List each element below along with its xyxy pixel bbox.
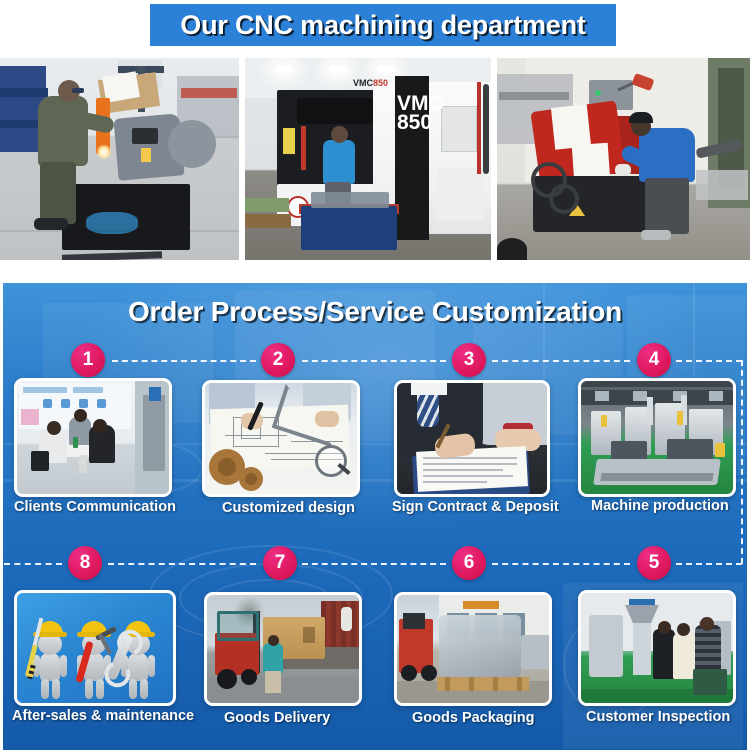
step4-conveyor-rail [600, 473, 713, 481]
step5-machine-column [633, 623, 651, 675]
step7-crate-marking [303, 627, 315, 643]
step6-second-wrapped-machine [521, 635, 549, 669]
step5-person-dark-head [658, 621, 671, 634]
step-badge-3[interactable]: 3 [452, 343, 486, 377]
step8-fig1-leg-left [41, 679, 49, 699]
page-root: Our CNC machining department [0, 0, 750, 750]
step8-fig1-arm-right [60, 655, 67, 677]
step-label-1: Clients Communication [14, 499, 176, 515]
step5-person-dark-body [653, 629, 675, 679]
photo3-work-order-sheet-a [551, 104, 591, 150]
step-7-image [207, 595, 359, 703]
photo1-worker-legs [40, 162, 76, 224]
step-1-image [17, 381, 169, 494]
step5-machine-left [589, 615, 623, 677]
step1-board-icon-3 [79, 399, 88, 408]
step8-fig2-leg-left [85, 679, 93, 699]
step-card-1[interactable] [14, 378, 172, 497]
photo-cnc-vmc-850: VMC 850 VMC850 [245, 58, 491, 260]
step8-fig3-leg-right [140, 679, 148, 699]
photo1-worker-safety-glasses [72, 88, 84, 93]
step-card-6[interactable] [394, 592, 552, 706]
step4-roof-beam [581, 387, 733, 390]
header-banner-area: Our CNC machining department [0, 0, 750, 56]
step-badge-4[interactable]: 4 [637, 343, 671, 377]
step3-doc-line-1 [423, 457, 517, 459]
photo2-ceiling-light-1 [275, 66, 293, 73]
step3-shirt-collar [411, 383, 447, 395]
step3-doc-line-5 [423, 481, 487, 483]
step6-awning [463, 601, 499, 609]
step1-equipment-body [143, 395, 165, 471]
step-card-4[interactable] [578, 378, 736, 497]
photo2-worker-head [331, 126, 348, 143]
photo2-machine-top-text: VMC850 [353, 78, 388, 88]
step5-person-light-head [677, 623, 690, 636]
step-card-3[interactable] [394, 380, 550, 497]
photo1-cutting-spark [96, 144, 112, 160]
step3-doc-line-2 [423, 463, 517, 465]
step-4-image [581, 381, 733, 494]
step8-fig3-leg-left [129, 679, 137, 699]
photo1-worker-body [38, 96, 88, 166]
step4-window-4 [709, 391, 723, 401]
photo2-worker-body [323, 140, 355, 184]
step6-forklift-wheel-1 [401, 665, 417, 681]
step6-forklift-cab [403, 613, 425, 629]
connector-right-to-5 [676, 563, 742, 565]
step6-wrapped-machine [439, 615, 521, 677]
step-label-8: After-sales & maintenance [12, 708, 194, 724]
connector-7-to-8 [108, 563, 256, 565]
step7-forklift-wheel-1 [217, 669, 237, 689]
photo2-vmc-top-label: VMC [353, 78, 373, 88]
step-badge-5[interactable]: 5 [637, 546, 671, 580]
photo2-wood-pallet [245, 214, 291, 228]
connector-4-to-right [676, 360, 742, 362]
step2-drawing-line-1 [225, 435, 287, 436]
step6-pallet-slat-3 [493, 677, 498, 691]
step5-equipment-case [693, 669, 727, 695]
step4-conveyor [593, 459, 721, 485]
step8-fig2-leg-right [96, 679, 104, 699]
step-3-image [397, 383, 547, 494]
photo3-worker-shoe [641, 230, 671, 240]
photo-worker-red-bandsaw [497, 58, 750, 260]
photo2-cable [483, 84, 489, 174]
step4-post-1 [647, 397, 653, 425]
photo3-tire [497, 238, 527, 260]
photo1-right-shelf-red [181, 88, 237, 98]
photo2-cart-tools [311, 192, 389, 208]
step-badge-8[interactable]: 8 [68, 546, 102, 580]
step8-fig1-leg-right [52, 679, 60, 699]
photo2-red-accent-line [477, 82, 481, 174]
photo1-control-panel [132, 128, 158, 144]
step4-yellow-marker-3 [715, 443, 725, 457]
step6-pallet-slat-4 [517, 677, 522, 691]
step-label-2: Customized design [222, 500, 355, 516]
step7-loader-figure [341, 607, 352, 631]
step1-person-left-head [47, 421, 61, 435]
photo3-floor-clutter [696, 170, 748, 200]
step8-fig1-torso [40, 653, 60, 681]
step-label-3: Sign Contract & Deposit [392, 499, 559, 515]
step3-doc-line-4 [423, 475, 513, 477]
step1-suitcase [31, 451, 49, 471]
step7-worker-legs [265, 671, 281, 693]
photo3-handwheel-b [549, 184, 579, 214]
step1-equipment-sign [149, 387, 161, 401]
step1-board-graphic [21, 409, 39, 425]
photo3-worker-cap [629, 112, 653, 123]
photo2-machine-model-text: VMC 850 [397, 94, 427, 132]
connector-right-vertical [741, 360, 743, 564]
step8-worker-figure-3 [117, 621, 159, 699]
step1-table-leg [79, 455, 87, 473]
step1-board-icon-1 [43, 399, 52, 408]
connector-left-to-8 [4, 563, 62, 565]
connector-3-to-4 [492, 360, 630, 362]
connector-6-to-7 [302, 563, 446, 565]
photo2-green-material [245, 198, 289, 212]
step1-person-center-head [74, 409, 87, 422]
connector-5-to-6 [492, 563, 630, 565]
step8-fig3-torso [128, 653, 148, 681]
photo2-enclosure-window [441, 106, 477, 152]
step5-person-light-body [673, 633, 695, 679]
step1-board-line-2 [73, 387, 103, 393]
header-banner: Our CNC machining department [150, 4, 616, 46]
photo1-shelf-bar-a [0, 88, 48, 97]
photo2-ceiling-light-2 [329, 66, 347, 73]
photo-worker-cutting-machine [0, 58, 239, 260]
photo2-yellow-label [283, 128, 295, 154]
photo3-worker-legs [645, 178, 689, 234]
section-title: Order Process/Service Customization [0, 296, 750, 328]
step6-forklift-wheel-2 [421, 665, 437, 681]
photo1-panel-sticker [141, 148, 151, 162]
photo3-control-led [595, 90, 601, 96]
step-5-image [581, 593, 733, 703]
step8-worker-figure-2 [73, 621, 115, 699]
photo2-tool-cart [301, 206, 397, 250]
step-label-4: Machine production [591, 498, 729, 514]
step-card-5[interactable] [578, 590, 736, 706]
photo2-dark-machine-top [297, 98, 373, 124]
step1-bottle [73, 437, 78, 448]
step3-doc-line-3 [423, 469, 503, 471]
step8-worker-figure-1 [29, 621, 71, 699]
step-2-image [205, 383, 357, 494]
step2-gear-small [239, 467, 263, 491]
step4-yellow-marker-1 [601, 415, 607, 427]
step1-board-icon-4 [97, 399, 106, 408]
step-8-image [17, 593, 173, 703]
step-badge-1[interactable]: 1 [71, 343, 105, 377]
photo2-enclosure-door [437, 168, 483, 220]
step7-forklift-cage [217, 611, 259, 641]
step7-forklift-wheel-2 [241, 669, 257, 685]
step1-person-right-head [93, 419, 107, 433]
photo1-floor-line [0, 230, 239, 232]
step4-yellow-marker-2 [677, 411, 683, 425]
step-badge-7[interactable]: 7 [263, 546, 297, 580]
step-badge-2[interactable]: 2 [261, 343, 295, 377]
step-card-8[interactable] [14, 590, 176, 706]
step8-fig3-arm-right [148, 655, 155, 677]
connector-2-to-3 [302, 360, 446, 362]
step-card-2[interactable] [202, 380, 360, 497]
photo2-ceiling-light-3 [377, 66, 395, 73]
step6-pallet-slat-2 [469, 677, 474, 691]
step4-window-2 [633, 391, 647, 401]
photo3-worker-glove [615, 164, 631, 176]
page-title: Our CNC machining department [180, 10, 585, 41]
step-6-image [397, 595, 549, 703]
step-label-5: Customer Inspection [586, 709, 730, 725]
photo-gallery-row: VMC 850 VMC850 [0, 58, 750, 260]
step-badge-6[interactable]: 6 [452, 546, 486, 580]
photo1-worker-shoe [34, 218, 68, 230]
step4-window-1 [595, 391, 609, 401]
step1-board-line-1 [23, 387, 67, 393]
step1-board-icon-2 [61, 399, 70, 408]
photo2-red-stripe [301, 126, 306, 170]
step-label-7: Goods Delivery [224, 710, 330, 726]
step2-hand-right [315, 411, 339, 427]
step6-wooden-pallet [437, 677, 529, 691]
step5-person-striped-head [700, 617, 714, 631]
step-label-6: Goods Packaging [412, 710, 534, 726]
step6-pallet-slat-1 [445, 677, 450, 691]
photo3-stored-parts-shelf [499, 92, 569, 100]
step7-worker-head [268, 635, 279, 646]
photo2-vmc-model: 850 [397, 111, 432, 134]
photo1-machine-drum [168, 120, 216, 168]
step2-magnifier-lens [315, 445, 347, 477]
step-card-7[interactable] [204, 592, 362, 706]
connector-1-to-2 [112, 360, 256, 362]
step7-worker-body [263, 643, 283, 673]
photo2-vmc-top-model: 850 [373, 78, 388, 88]
